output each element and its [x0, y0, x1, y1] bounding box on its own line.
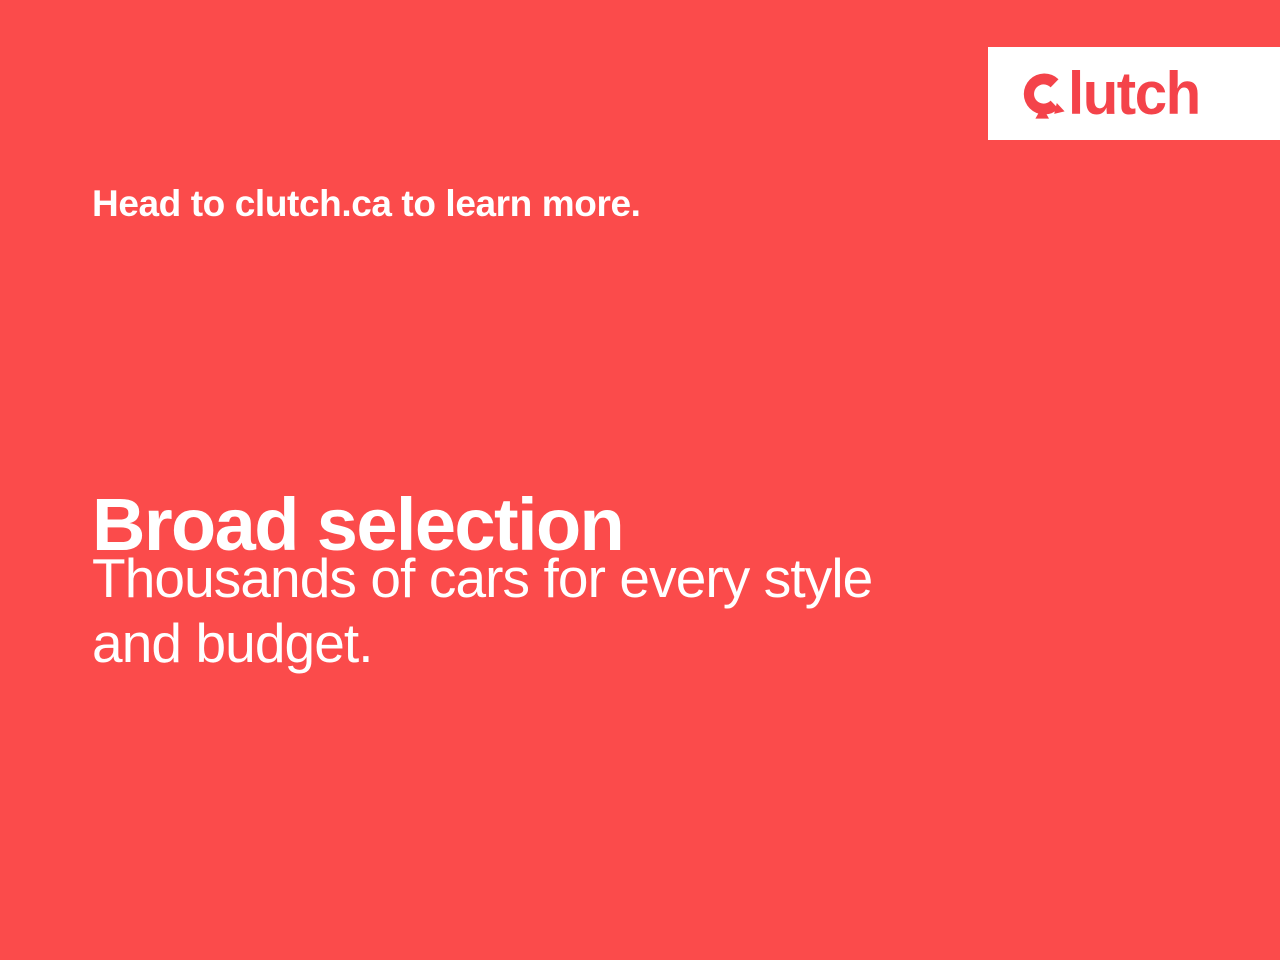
subheading: Thousands of cars for every style and bu… [92, 546, 1052, 676]
eyebrow-text: Head to clutch.ca to learn more. [92, 182, 641, 226]
clutch-c-mark-icon [1018, 66, 1066, 122]
clutch-logo-lockup[interactable]: lutch [1018, 64, 1204, 124]
clutch-logo-plate: lutch [988, 47, 1280, 140]
promo-slide: lutch Head to clutch.ca to learn more. B… [0, 0, 1280, 960]
clutch-wordmark: lutch [1068, 64, 1200, 124]
subheading-line-2: and budget. [92, 611, 1052, 676]
subheading-line-1: Thousands of cars for every style [92, 546, 1052, 611]
